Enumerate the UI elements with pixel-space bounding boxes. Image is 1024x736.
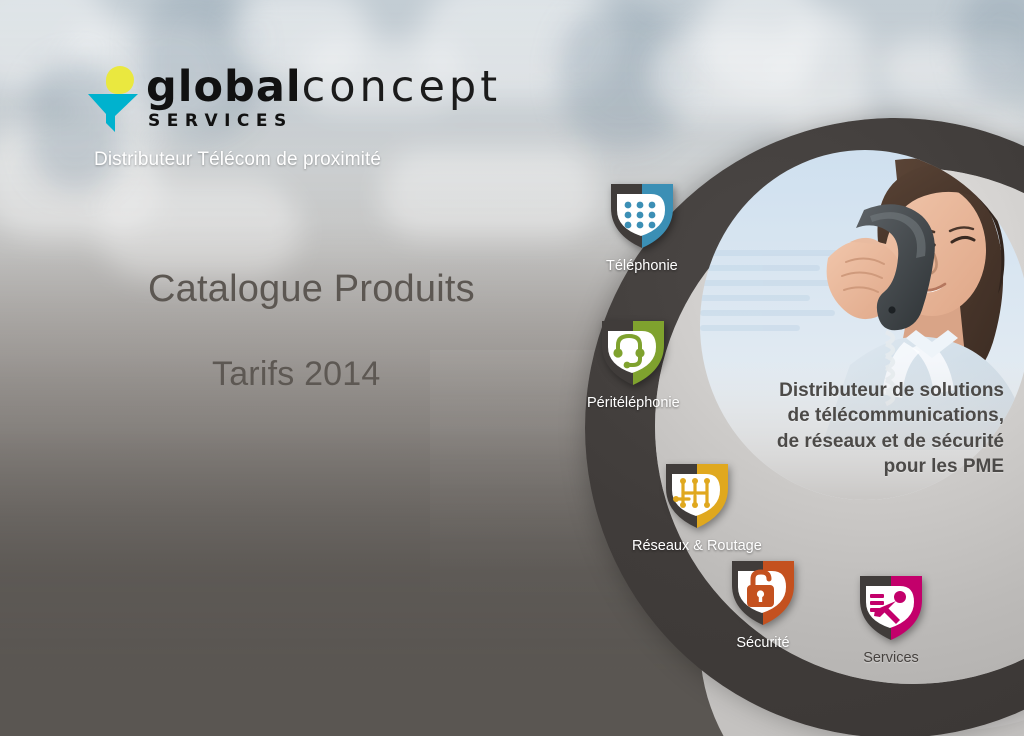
claim-line-3: de réseaux et de sécurité [726,429,1004,454]
logo-body-shape [88,92,138,132]
logo-head-shape [106,66,134,94]
page-subtitle: Tarifs 2014 [212,355,381,394]
person-funnel-logo-icon [88,66,140,128]
shield-peritelephonie[interactable] [598,315,668,391]
pillar-label-peritelephonie: Péritéléphonie [587,395,680,411]
logo-wordmark: globalconcept [146,66,501,109]
shield-reseaux-routage[interactable] [662,458,732,534]
headset-icon[interactable] [598,315,668,391]
pillar-reseaux-routage[interactable]: Réseaux & Routage [632,458,762,554]
pillar-services[interactable]: Services [856,570,926,666]
tools-wrench-icon[interactable] [856,570,926,646]
page-title: Catalogue Produits [148,268,475,311]
claim-text: Distributeur de solutions de télécommuni… [726,378,1004,479]
claim-line-2: de télécommunications, [726,403,1004,428]
brand-logo: globalconcept SERVICES [88,66,501,130]
shield-telephonie[interactable] [607,178,677,254]
shield-securite[interactable] [728,555,798,631]
pillar-telephonie[interactable]: Téléphonie [606,178,678,274]
pillar-peritelephonie[interactable]: Péritéléphonie [587,315,680,411]
shield-services[interactable] [856,570,926,646]
logo-word-light: concept [302,62,501,112]
logo-subtitle: SERVICES [148,113,501,130]
pillar-label-telephonie: Téléphonie [606,258,678,274]
brand-tagline: Distributeur Télécom de proximité [94,149,381,171]
pillar-label-securite: Sécurité [728,635,798,651]
pillar-securite[interactable]: Sécurité [728,555,798,651]
pillar-label-reseaux-routage: Réseaux & Routage [632,538,762,554]
claim-line-1: Distributeur de solutions [726,378,1004,403]
pillar-label-services: Services [856,650,926,666]
claim-line-4: pour les PME [726,454,1004,479]
network-nodes-icon[interactable] [662,458,732,534]
padlock-icon[interactable] [728,555,798,631]
logo-word-bold: global [146,62,302,112]
slide-cover: globalconcept SERVICES Distributeur Télé… [0,0,1024,736]
keypad-icon[interactable] [607,178,677,254]
